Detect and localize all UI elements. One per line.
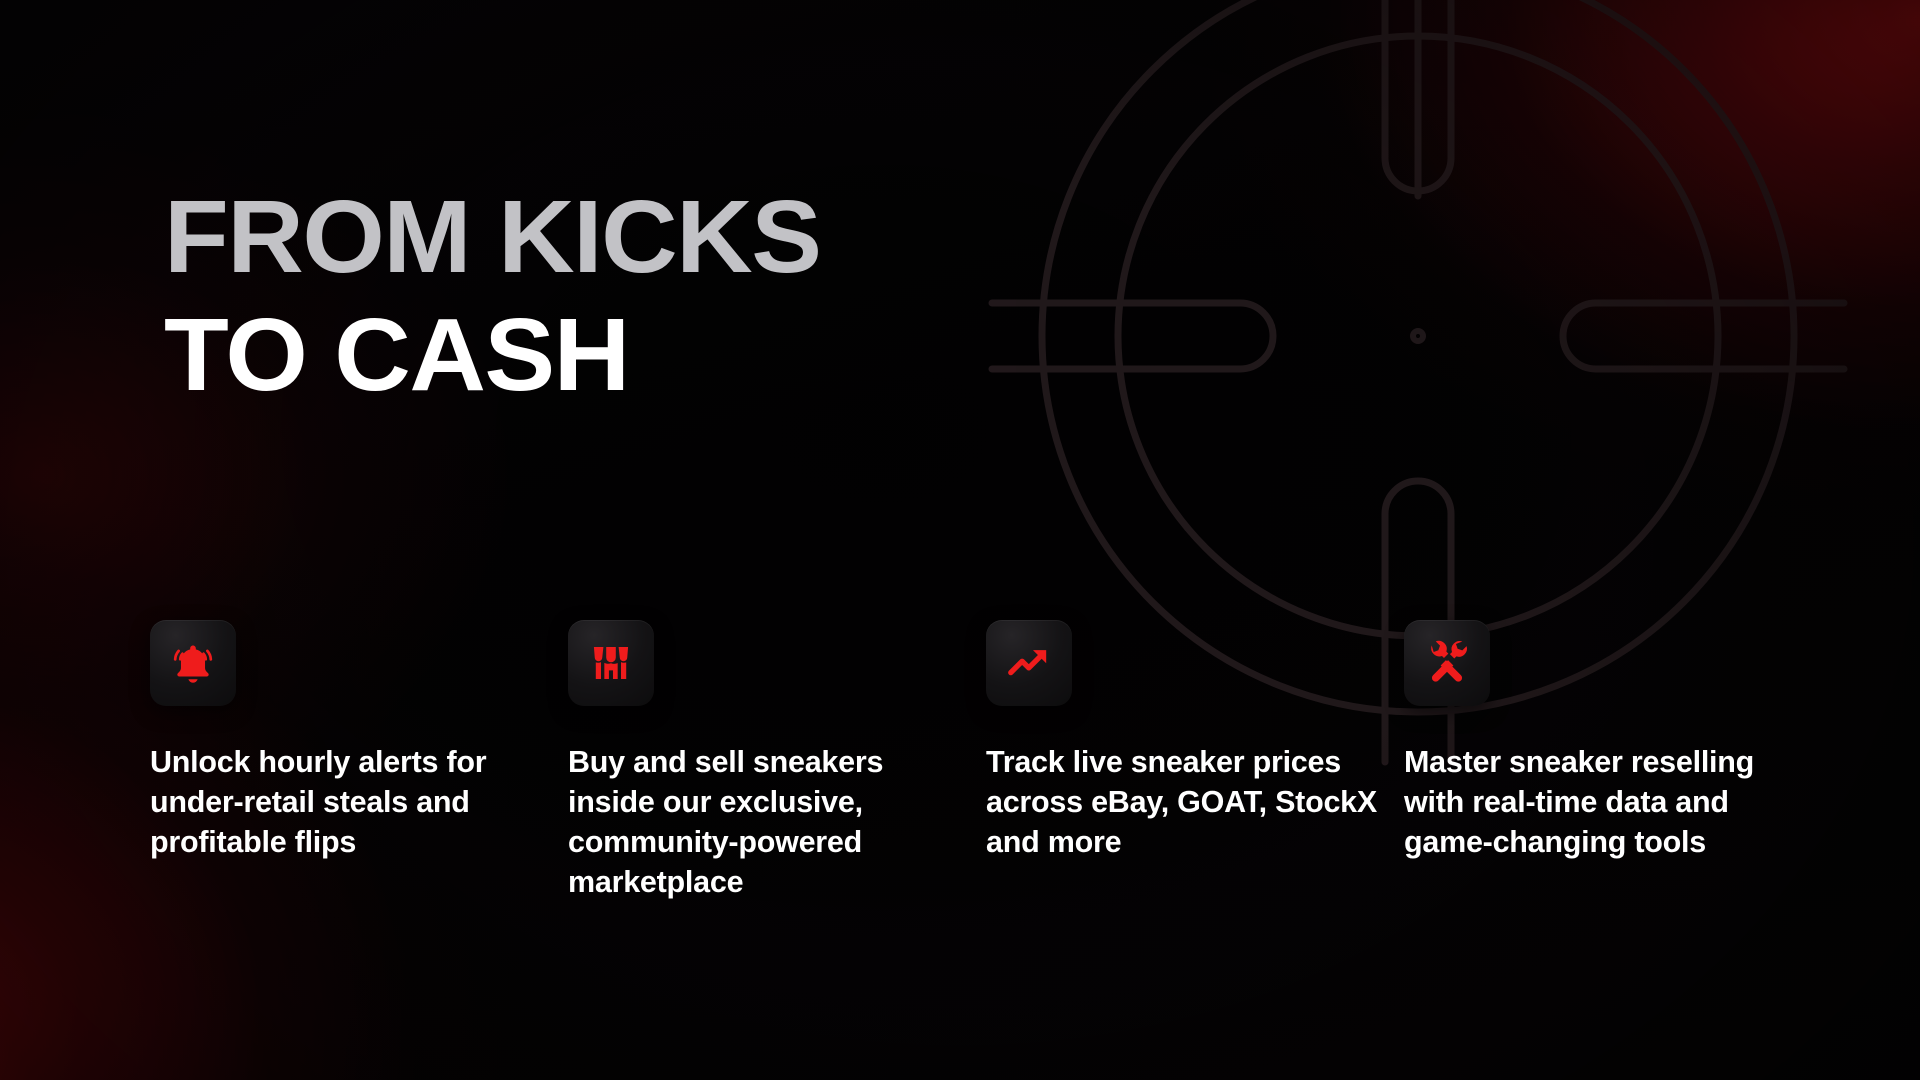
feature-text: Master sneaker reselling with real-time … (1404, 742, 1800, 862)
feature-icon-tile (150, 620, 236, 706)
bell-ringing-icon (168, 638, 218, 688)
hammer-and-wrench-icon (1422, 638, 1472, 688)
trending-up-chart-icon (1004, 638, 1054, 688)
background-vignette (0, 0, 1920, 1080)
page-title: FROM KICKS TO CASH (164, 178, 1264, 414)
feature-item-price-tracking: Track live sneaker prices across eBay, G… (986, 620, 1404, 862)
feature-list: Unlock hourly alerts for under-retail st… (150, 620, 1840, 902)
feature-icon-tile (568, 620, 654, 706)
feature-item-alerts: Unlock hourly alerts for under-retail st… (150, 620, 568, 862)
feature-icon-tile (986, 620, 1072, 706)
feature-icon-tile (1404, 620, 1490, 706)
headline-line-2: TO CASH (164, 296, 1297, 414)
headline-line-1: FROM KICKS (164, 178, 1297, 296)
hero-stage: FROM KICKS TO CASH (0, 0, 1920, 1080)
feature-text: Track live sneaker prices across eBay, G… (986, 742, 1382, 862)
storefront-icon (586, 638, 636, 688)
feature-text: Unlock hourly alerts for under-retail st… (150, 742, 546, 862)
feature-item-tools: Master sneaker reselling with real-time … (1404, 620, 1822, 862)
feature-item-marketplace: Buy and sell sneakers inside our exclusi… (568, 620, 986, 902)
feature-text: Buy and sell sneakers inside our exclusi… (568, 742, 964, 902)
